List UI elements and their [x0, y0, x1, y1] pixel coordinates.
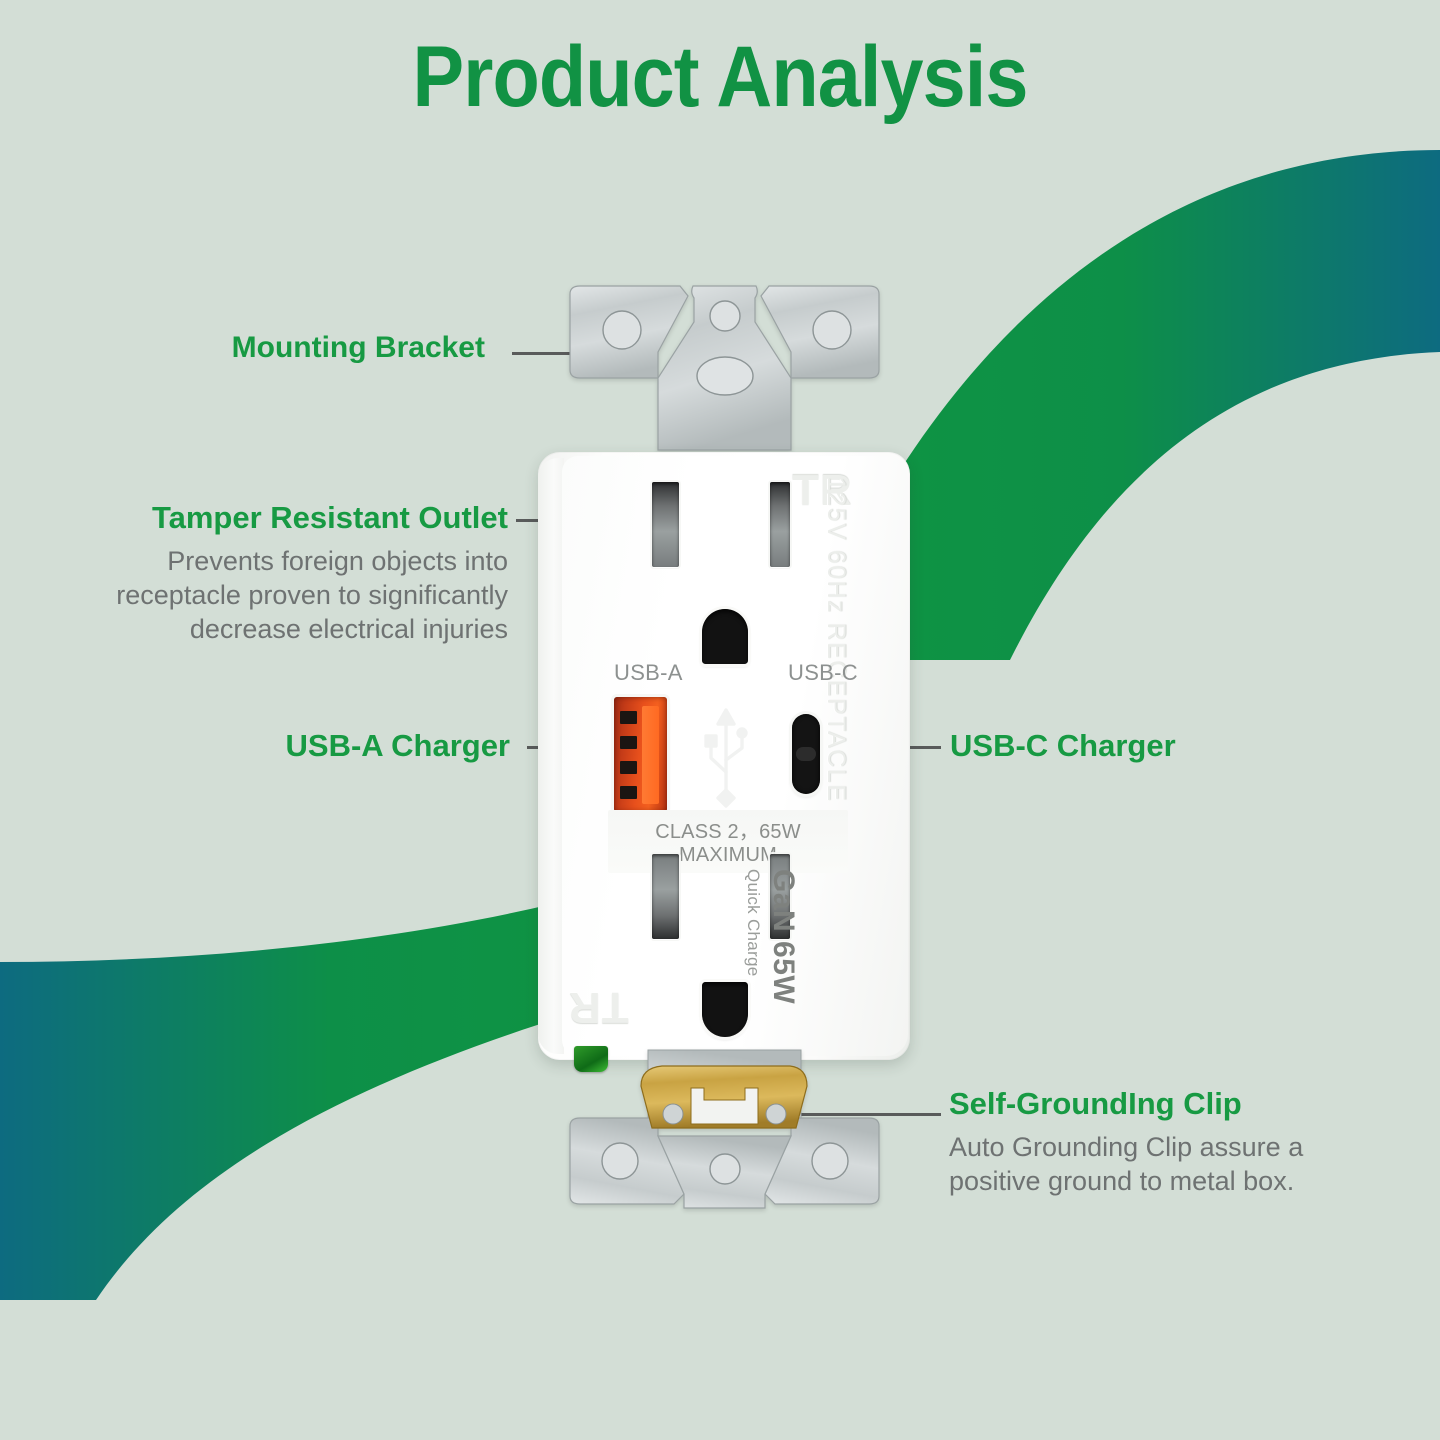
receptacle-bottom-ground-hole [702, 982, 748, 1037]
usb-trident-icon [698, 702, 754, 810]
tr-marking-bottom: TR [568, 982, 629, 1032]
side-spec-marking: 125V 60Hz RECEPTACLE 15A [821, 477, 850, 997]
callout-body-tamper-resistant: Prevents foreign objects into receptacle… [38, 544, 508, 646]
usb-c-tongue [796, 747, 816, 761]
callout-self-grounding-clip: Self-GroundIng Clip Auto Grounding Clip … [949, 1086, 1369, 1198]
class-2-marking: CLASS 2，65W MAXIMUM [608, 810, 848, 873]
usb-a-port[interactable] [614, 697, 667, 812]
callout-title-self-grounding: Self-GroundIng Clip [949, 1086, 1369, 1122]
usb-a-pins [620, 711, 637, 799]
receptacle-top-hot-slot [770, 482, 790, 567]
callout-title-tamper-resistant: Tamper Resistant Outlet [38, 500, 508, 536]
mounting-bracket-bottom-with-grounding-clip [562, 1044, 887, 1214]
usb-a-tongue [642, 706, 659, 804]
gan-rating-block: GaN 65W Quick Charge [743, 869, 800, 1004]
infographic-canvas: Product Analysis Mounting Bracket Tamper… [0, 0, 1440, 1440]
mounting-bracket-top [562, 282, 887, 462]
gan-rating-sub: Quick Charge [743, 869, 763, 1004]
callout-title-usb-c: USB-C Charger [950, 728, 1176, 764]
callout-title-usb-a: USB-A Charger [286, 728, 511, 764]
callout-title-mounting-bracket: Mounting Bracket [232, 331, 485, 366]
usb-a-port-label: USB-A [614, 660, 683, 686]
callout-tamper-resistant-outlet: Tamper Resistant Outlet Prevents foreign… [38, 500, 508, 646]
usb-c-port[interactable] [792, 714, 820, 794]
receptacle-bottom-neutral-slot [652, 854, 679, 939]
receptacle-top-neutral-slot [652, 482, 679, 567]
gan-rating-main: GaN 65W [766, 869, 800, 1004]
callout-mounting-bracket: Mounting Bracket [232, 331, 485, 366]
callout-body-self-grounding: Auto Grounding Clip assure a positive gr… [949, 1130, 1369, 1198]
callout-usb-c-charger: USB-C Charger [950, 728, 1176, 764]
usb-c-port-label: USB-C [788, 660, 858, 686]
callout-usb-a-charger: USB-A Charger [286, 728, 511, 764]
page-title: Product Analysis [72, 28, 1368, 127]
receptacle-top-ground-hole [702, 609, 748, 664]
outlet-device: TR 125V 60Hz RECEPTACLE 15A USB-A USB-C [530, 282, 920, 1202]
faceplate-left-edge [538, 458, 564, 1054]
